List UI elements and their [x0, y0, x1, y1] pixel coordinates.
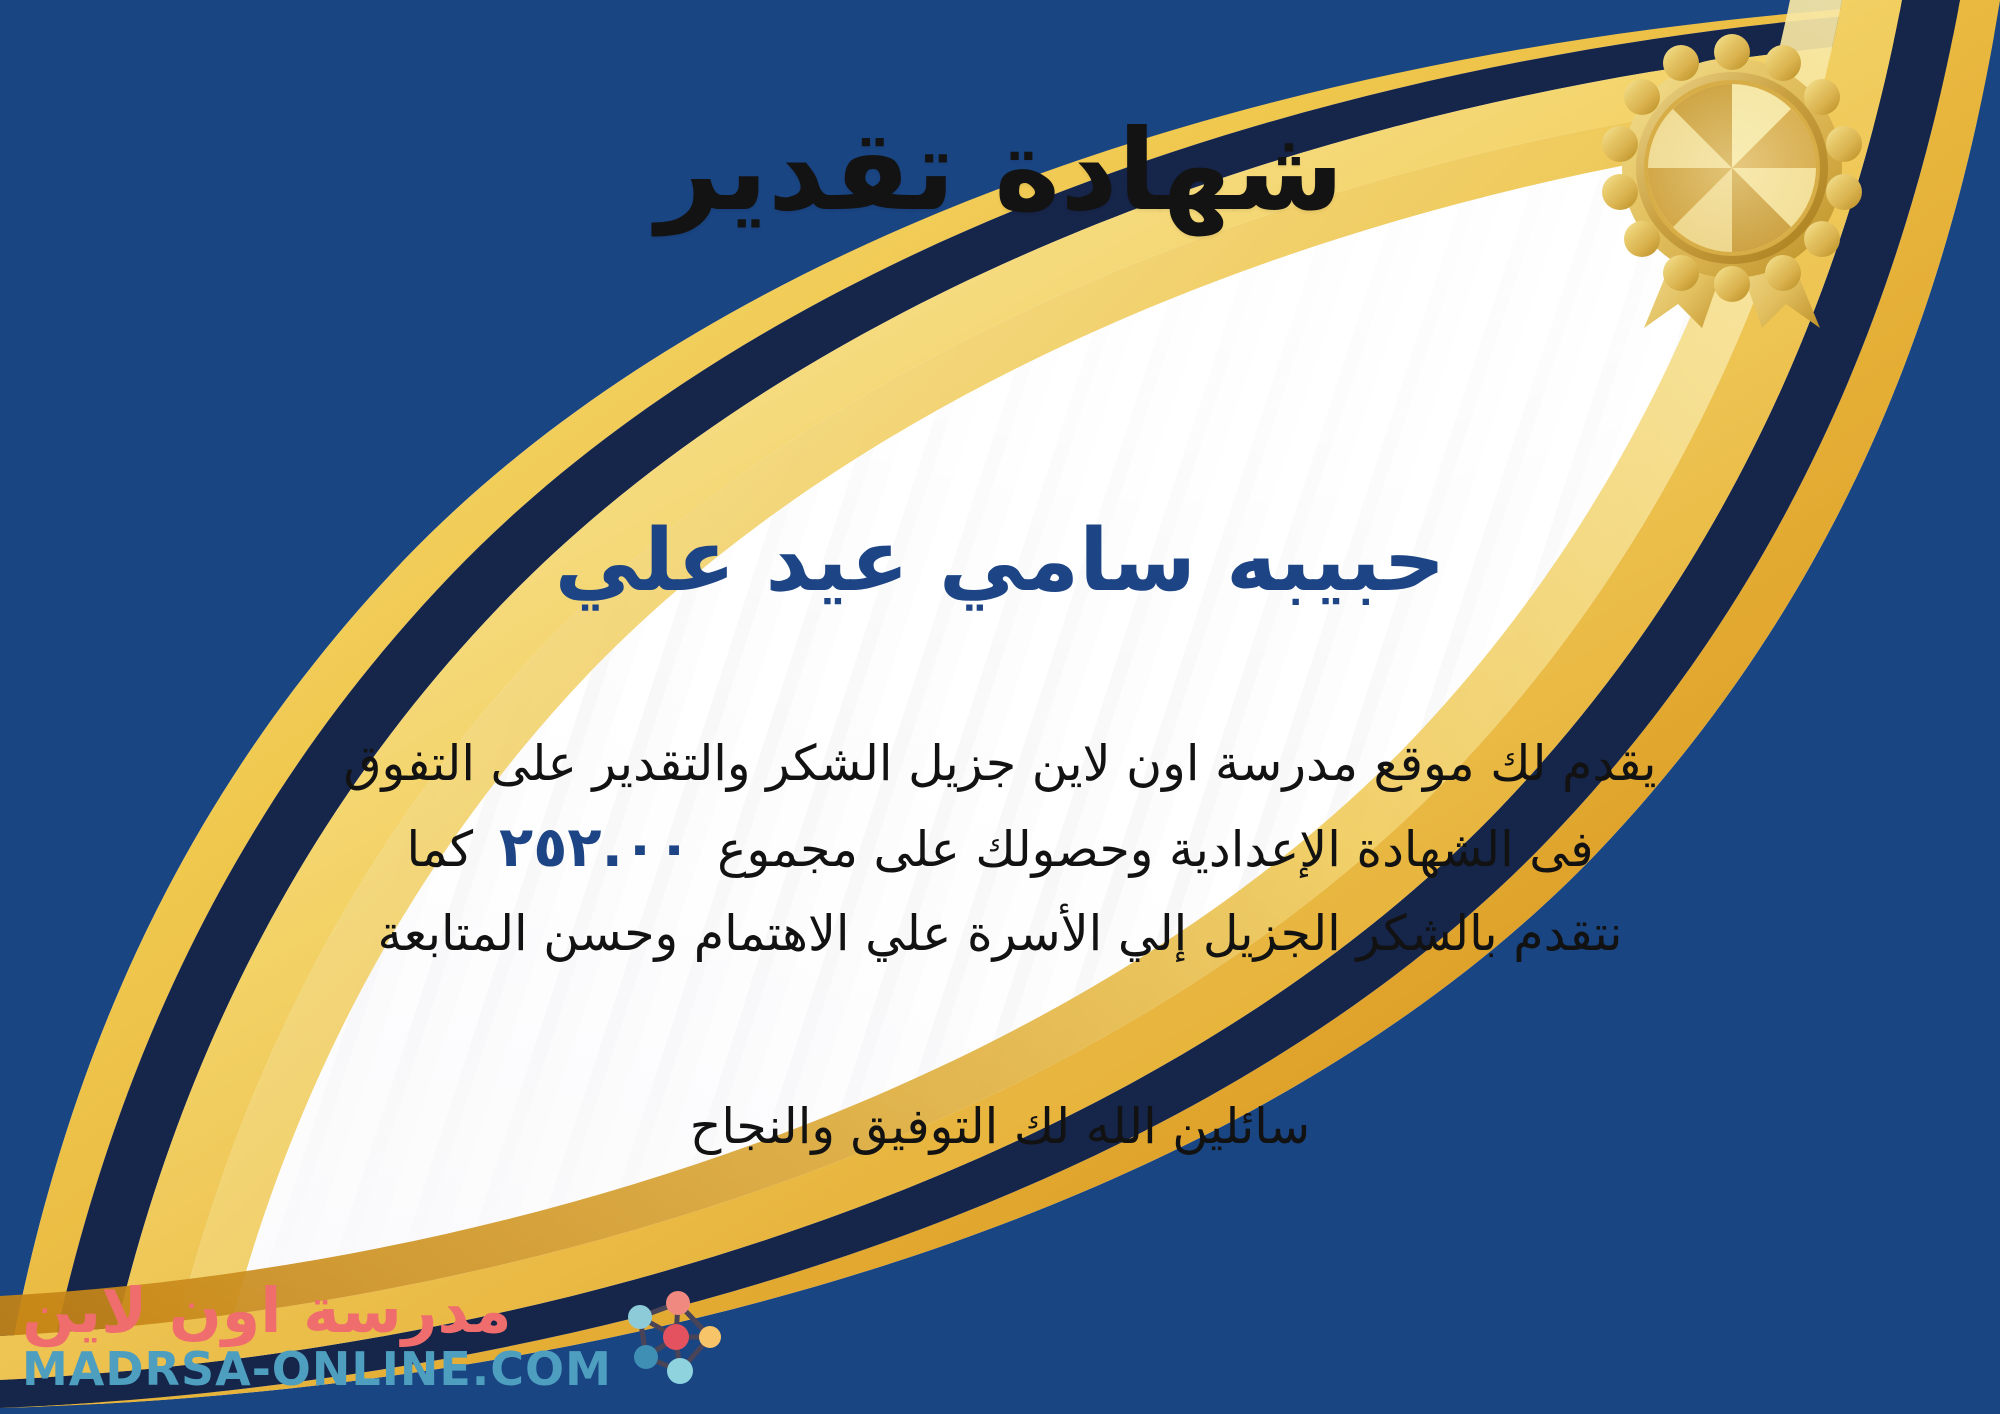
- site-logo[interactable]: مدرسة اون لاين MADRSA-ONLINE.COM: [22, 1280, 728, 1392]
- logo-text-group: مدرسة اون لاين MADRSA-ONLINE.COM: [22, 1280, 612, 1392]
- certificate-title: شهادة تقدير: [0, 104, 2000, 238]
- certificate-body: يقدم لك موقع مدرسة اون لاين جزيل الشكر و…: [40, 724, 1960, 973]
- total-score-value: ٢٥٢.٠٠: [473, 815, 717, 880]
- logo-arabic-name: مدرسة اون لاين: [22, 1280, 512, 1342]
- body-line-2: فى الشهادة الإعدادية وحصولك على مجموع٢٥٢…: [40, 803, 1960, 894]
- logo-website-url: MADRSA-ONLINE.COM: [22, 1346, 612, 1392]
- body-line-3: نتقدم بالشكر الجزيل إلي الأسرة علي الاهت…: [40, 894, 1960, 973]
- network-nodes-icon: [618, 1281, 728, 1391]
- body-line-2-prefix: فى الشهادة الإعدادية وحصولك على مجموع: [717, 821, 1593, 878]
- body-line-2-suffix: كما: [406, 821, 473, 878]
- body-line-1: يقدم لك موقع مدرسة اون لاين جزيل الشكر و…: [40, 724, 1960, 803]
- closing-line: سائلين الله لك التوفيق والنجاح: [0, 1098, 2000, 1155]
- recipient-name: حبيبه سامي عيد علي: [0, 508, 2000, 616]
- certificate-canvas: شهادة تقدير حبيبه سامي عيد علي يقدم لك م…: [0, 0, 2000, 1414]
